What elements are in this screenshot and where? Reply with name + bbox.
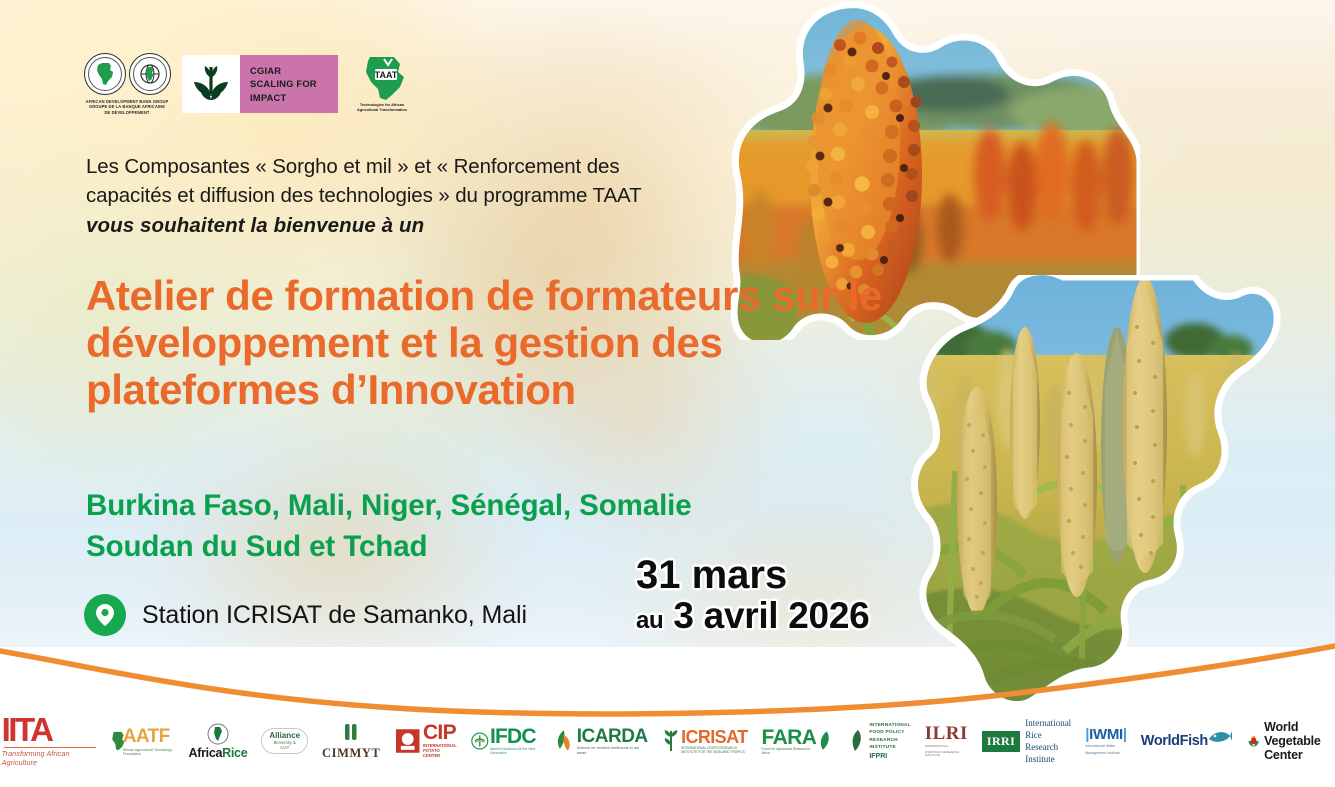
alliance-logo: Alliance Bioversity & CIAT xyxy=(254,711,315,771)
cip-emblem-icon xyxy=(395,728,420,754)
africarice-seal-icon xyxy=(207,723,229,745)
countries-line-1: Burkina Faso, Mali, Niger, Sénégal, Soma… xyxy=(86,486,826,527)
ifdc-emblem-icon xyxy=(471,730,489,752)
event-dates: 31 mars au 3 avril 2026 xyxy=(636,556,869,635)
aatf-wordmark: AATF xyxy=(123,727,175,746)
ifpri-line-1: INTERNATIONAL xyxy=(869,722,910,729)
partner-logo-header: AFRICAN DEVELOPMENT BANK GROUP GROUPE DE… xyxy=(78,48,416,120)
afdb-caption: AFRICAN DEVELOPMENT BANK GROUP GROUPE DE… xyxy=(86,99,169,116)
cip-tagline-2: POTATO CENTER xyxy=(423,748,457,758)
ifpri-leaf-icon xyxy=(849,729,867,753)
africarice-wordmark: AfricaRice xyxy=(189,746,248,760)
afdb-globe-seal-icon xyxy=(129,53,171,95)
fara-logo: FARA Forum for Agricultural Research in … xyxy=(755,711,843,771)
venue-block: Station ICRISAT de Samanko, Mali xyxy=(84,594,527,636)
iita-rule xyxy=(4,747,96,748)
ifdc-logo: IFDC Nutrient Solutions for the Next Gen… xyxy=(464,711,547,771)
cimmyt-maize-icon xyxy=(340,722,362,744)
event-date-end: 3 avril 2026 xyxy=(673,595,869,636)
svg-text:TAAT: TAAT xyxy=(375,70,398,80)
intro-line-2: capacités et diffusion des technologies … xyxy=(86,181,706,210)
icarda-wordmark: ICARDA xyxy=(577,727,648,746)
icarda-logo: ICARDA Science for resilient livelihoods… xyxy=(547,711,655,771)
event-date-line-2: au 3 avril 2026 xyxy=(636,597,869,635)
taat-caption: Technologies for African Agricultural Tr… xyxy=(357,103,407,113)
ilri-tagline-1: INTERNATIONAL xyxy=(925,745,968,749)
ifpri-logo: INTERNATIONAL FOOD POLICY RESEARCH INSTI… xyxy=(842,711,917,771)
irri-line-2: Research Institute xyxy=(1025,741,1071,765)
cip-wordmark: CIP xyxy=(423,723,457,743)
worldfish-fish-icon xyxy=(1207,728,1233,748)
ilri-logo: ILRI INTERNATIONAL LIVESTOCK RESEARCH IN… xyxy=(918,711,975,771)
worldveg-wordmark: World Vegetable Center xyxy=(1264,720,1333,762)
cgiar-plant-icon xyxy=(182,55,240,113)
cgiar-line-3: IMPACT xyxy=(250,91,338,105)
event-poster: AFRICAN DEVELOPMENT BANK GROUP GROUPE DE… xyxy=(0,0,1335,787)
aatf-tagline: African Agricultural Technology Foundati… xyxy=(123,748,175,756)
irri-badge: IRRI xyxy=(982,731,1020,752)
ifpri-wordmark: IFPRI xyxy=(869,753,910,760)
worldveg-logo: World Vegetable Center xyxy=(1240,711,1335,771)
iita-logo: IITA Transforming African Agriculture xyxy=(0,711,103,771)
cip-logo: CIP INTERNATIONAL POTATO CENTER xyxy=(388,711,465,771)
intro-paragraph: Les Composantes « Sorgho et mil » et « R… xyxy=(86,152,706,240)
irri-line-1: International Rice xyxy=(1025,717,1071,741)
irri-name: International Rice Research Institute xyxy=(1025,717,1071,766)
irri-logo: IRRI International Rice Research Institu… xyxy=(975,711,1078,771)
intro-line-3: vous souhaitent la bienvenue à un xyxy=(86,211,706,240)
footer-partner-logos: IITA Transforming African Agriculture AA… xyxy=(0,709,1335,773)
icrisat-wordmark: ICRISAT xyxy=(681,728,747,746)
cimmyt-wordmark: CIMMYT xyxy=(322,746,380,761)
iwmi-tagline-1: International Water xyxy=(1085,744,1127,749)
icrisat-plant-icon xyxy=(662,729,680,753)
location-pin-icon xyxy=(84,594,126,636)
iwmi-wordmark: |IWMI| xyxy=(1085,727,1127,742)
ifpri-line-4: INSTITUTE xyxy=(869,744,910,751)
aatf-logo: AATF African Agricultural Technology Fou… xyxy=(103,711,182,771)
intro-line-1: Les Composantes « Sorgho et mil » et « R… xyxy=(86,152,706,181)
iwmi-tagline-2: Management Institute xyxy=(1085,751,1127,756)
alliance-wordmark: Alliance xyxy=(269,732,300,741)
fara-tagline: Forum for Agricultural Research in Afric… xyxy=(762,748,817,756)
event-date-line-1: 31 mars xyxy=(636,556,869,595)
fara-leaf-icon xyxy=(818,730,835,752)
iwmi-logo: |IWMI| International Water Management In… xyxy=(1078,711,1134,771)
ifpri-line-2: FOOD POLICY xyxy=(869,729,910,736)
icrisat-tagline-2: INSTITUTE FOR THE SEMI-ARID TROPICS xyxy=(681,750,747,754)
worldveg-emblem-icon xyxy=(1247,728,1260,754)
ilri-tagline-2: LIVESTOCK RESEARCH INSTITUTE xyxy=(925,751,968,759)
cimmyt-logo: CIMMYT xyxy=(315,711,387,771)
fara-wordmark: FARA xyxy=(762,727,817,748)
icarda-tagline: Science for resilient livelihoods in dry… xyxy=(577,746,648,755)
worldfish-wordmark: WorldFish xyxy=(1141,733,1208,749)
afdb-africa-seal-icon xyxy=(84,53,126,95)
ifdc-wordmark: IFDC xyxy=(490,727,540,747)
worldfish-logo: WorldFish xyxy=(1134,711,1240,771)
afdb-seal-marks xyxy=(84,53,171,95)
venue-text: Station ICRISAT de Samanko, Mali xyxy=(142,601,527,630)
ifdc-tagline: Nutrient Solutions for the Next Generati… xyxy=(490,747,540,755)
taat-logo: TAAT Technologies for African Agricultur… xyxy=(348,55,416,113)
page-title: Atelier de formation de formateurs sur l… xyxy=(86,272,896,413)
iita-tagline: Transforming African Agriculture xyxy=(2,749,96,767)
ilri-wordmark: ILRI xyxy=(925,724,968,743)
alliance-tagline: Bioversity & CIAT xyxy=(269,740,300,750)
iita-wordmark: IITA xyxy=(2,715,52,745)
cgiar-line-1: CGIAR xyxy=(250,64,338,78)
africarice-logo: AfricaRice xyxy=(182,711,255,771)
cgiar-line-2: SCALING FOR xyxy=(250,77,338,91)
event-date-prefix: au xyxy=(636,607,663,634)
cgiar-tagline-box: CGIAR SCALING FOR IMPACT xyxy=(240,55,338,113)
ifpri-line-3: RESEARCH xyxy=(869,737,910,744)
icarda-leaf-icon xyxy=(554,729,574,753)
taat-africa-icon: TAAT xyxy=(354,55,410,101)
afdb-logo: AFRICAN DEVELOPMENT BANK GROUP GROUPE DE… xyxy=(78,53,176,116)
icrisat-logo: ICRISAT INTERNATIONAL CROPS RESEARCH INS… xyxy=(655,711,754,771)
cgiar-logo: CGIAR SCALING FOR IMPACT xyxy=(182,55,338,113)
